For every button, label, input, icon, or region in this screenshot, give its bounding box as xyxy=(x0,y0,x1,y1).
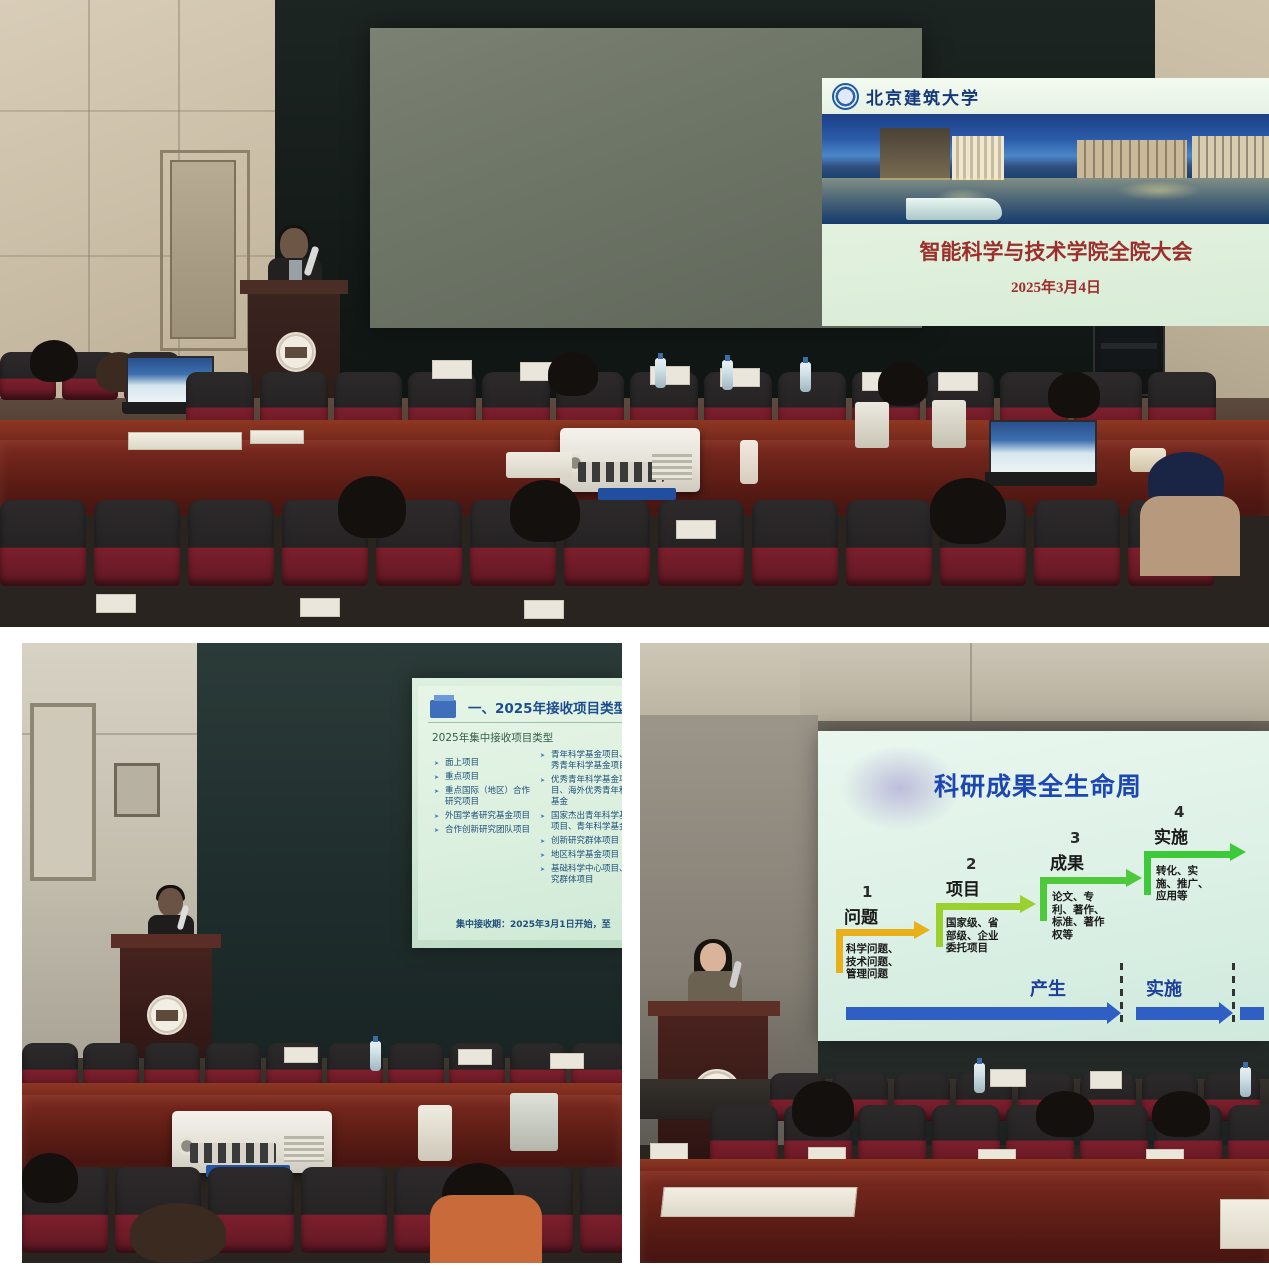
remote-tray xyxy=(506,452,572,478)
projector-vents xyxy=(652,454,692,480)
flow-label-implement: 实施 xyxy=(1146,975,1182,1001)
name-card xyxy=(650,1143,688,1160)
podium-surface xyxy=(648,1001,780,1016)
slide-title-page: 北京建筑大学 智能科学与技术学院全院大会 2025年3月4日 xyxy=(822,78,1269,326)
slide-footer-note: 集中接收期：2025年3月1日开始，至 xyxy=(456,917,611,930)
audience-person xyxy=(1152,1091,1210,1137)
slide-header-bar: 北京建筑大学 xyxy=(822,78,1269,114)
list-item: 创新研究群体项目 xyxy=(540,836,622,847)
seat xyxy=(1034,500,1120,586)
projection-screen-top: 北京建筑大学 智能科学与技术学院全院大会 2025年3月4日 xyxy=(370,28,922,328)
seat xyxy=(188,500,274,586)
name-card xyxy=(938,372,978,391)
desk-device-a xyxy=(418,1105,452,1161)
photo-bottom-left-project-types: 一、2025年接收项目类型 2025年集中接收项目类型 面上项目 重点项目 重点… xyxy=(22,643,622,1263)
conference-table xyxy=(640,1171,1269,1263)
seat xyxy=(94,500,180,586)
university-seal-icon xyxy=(832,83,859,110)
stage-description-1: 科学问题、技术问题、管理问题 xyxy=(846,943,902,981)
lifecycle-title: 科研成果全生命周 xyxy=(934,767,1142,803)
speaker-head xyxy=(700,943,726,973)
list-item: 重点项目 xyxy=(434,772,530,783)
stage-number-1: 1 xyxy=(862,883,872,901)
wall-picture-frame xyxy=(114,763,160,817)
bracket-stem xyxy=(936,903,943,947)
bracket-stem xyxy=(1040,877,1047,921)
meeting-title: 智能科学与技术学院全院大会 xyxy=(822,236,1269,266)
seat xyxy=(846,500,932,586)
list-item: 外国学者研究基金项目 xyxy=(434,811,530,822)
water-bottle xyxy=(655,358,666,388)
projection-screen-bottom-right: 科研成果全生命周 1 问题 科学问题、技术问题、管理问题 2 项目 国家级、省部… xyxy=(818,731,1269,1041)
slide-heading: 一、2025年接收项目类型 xyxy=(468,697,622,717)
seat-row-front xyxy=(0,500,1214,586)
speaker-head xyxy=(280,228,308,260)
name-card xyxy=(284,1047,318,1063)
seat xyxy=(658,500,744,586)
stage-label-3: 成果 xyxy=(1050,849,1084,874)
photo-top-auditorium-opening: 北京建筑大学 智能科学与技术学院全院大会 2025年3月4日 xyxy=(0,0,1269,627)
photo-bottom-right-research-lifecycle: 科研成果全生命周 1 问题 科学问题、技术问题、管理问题 2 项目 国家级、省部… xyxy=(640,643,1269,1263)
slide-bullet-icon xyxy=(430,700,456,718)
projection-screen-bottom-left: 一、2025年接收项目类型 2025年集中接收项目类型 面上项目 重点项目 重点… xyxy=(412,678,622,948)
list-item: 国家杰出青年科学基金项目、青年科学基金 xyxy=(540,811,622,833)
list-item: 地区科学基金项目 xyxy=(540,850,622,861)
stage-label-2: 项目 xyxy=(946,875,980,900)
desk-device-b xyxy=(932,400,966,448)
list-item: 合作创新研究团队项目 xyxy=(434,825,530,836)
audience-person xyxy=(338,476,406,538)
audience-person xyxy=(1036,1091,1094,1137)
stage-description-3: 论文、专利、著作、标准、著作权等 xyxy=(1052,891,1108,941)
desk-device-b xyxy=(510,1093,558,1151)
stage-label-1: 问题 xyxy=(844,903,878,928)
side-door xyxy=(170,160,236,339)
stage-description-4: 转化、实施、推广、应用等 xyxy=(1156,865,1212,903)
campus-building-b xyxy=(952,136,1004,180)
meeting-date: 2025年3月4日 xyxy=(822,276,1269,297)
stage-arrow-4 xyxy=(1230,843,1246,861)
badge-card xyxy=(1220,1199,1269,1249)
slide-subheading: 2025年集中接收项目类型 xyxy=(432,730,553,745)
bracket-arm xyxy=(1144,851,1230,858)
list-item: 青年科学基金项目、优秀青年科学基金项目 xyxy=(540,750,622,772)
bracket-arm xyxy=(1040,877,1126,884)
stage-arrow-3 xyxy=(1126,869,1142,887)
document-paper xyxy=(250,430,304,444)
water-bottle xyxy=(1240,1067,1251,1097)
thermos-bottle xyxy=(740,440,758,484)
podium-surface xyxy=(240,280,348,294)
cable-box xyxy=(598,488,676,500)
audience-person-jacket xyxy=(430,1195,542,1263)
name-card xyxy=(524,600,564,619)
audience-person xyxy=(792,1081,854,1137)
stage-number-4: 4 xyxy=(1174,803,1184,821)
seat xyxy=(0,500,86,586)
stage-number-3: 3 xyxy=(1070,829,1080,847)
flow-arrow-next xyxy=(1240,1007,1264,1020)
audience-person xyxy=(548,352,598,396)
audience-person xyxy=(878,362,928,406)
laptop-right xyxy=(985,420,1097,486)
stage-description-2: 国家级、省部级、企业委托项目 xyxy=(946,917,1002,955)
audience-person xyxy=(30,340,78,382)
university-name: 北京建筑大学 xyxy=(866,84,980,109)
project-list-right: 青年科学基金项目、优秀青年科学基金项目 优秀青年科学基金项目、海外优秀青年科学基… xyxy=(540,750,622,889)
bracket-arm xyxy=(936,903,1020,910)
speaker-head xyxy=(158,888,183,917)
water-bottle xyxy=(370,1041,381,1071)
name-card xyxy=(96,594,136,613)
podium-seal-icon xyxy=(276,332,316,372)
campus-building-d xyxy=(1192,136,1269,178)
name-card xyxy=(990,1069,1026,1087)
projector-ports xyxy=(190,1143,276,1163)
projector-device xyxy=(560,428,700,492)
campus-building-c xyxy=(1077,140,1187,178)
name-card xyxy=(458,1049,492,1065)
flow-arrow-implement xyxy=(1136,1007,1220,1020)
bracket-arm xyxy=(836,929,914,936)
list-item: 基础科学中心项目、研究群体项目 xyxy=(540,864,622,886)
flow-arrow-generate xyxy=(846,1007,1108,1020)
seat xyxy=(752,500,838,586)
stage-label-4: 实施 xyxy=(1154,823,1188,848)
side-door xyxy=(30,703,96,881)
campus-banner-image xyxy=(822,114,1269,224)
wall-panel-corner xyxy=(640,643,800,721)
flow-label-generate: 产生 xyxy=(1030,975,1066,1001)
flow-divider-2 xyxy=(1232,963,1235,1025)
campus-water-reflection xyxy=(822,178,1269,224)
projector-vents xyxy=(284,1136,324,1162)
audience-person xyxy=(510,480,580,542)
desk-device-a xyxy=(855,402,889,448)
audience-person xyxy=(1048,372,1100,418)
name-card xyxy=(300,598,340,617)
seat xyxy=(301,1167,387,1253)
stage-arrow-2 xyxy=(1020,895,1036,913)
stage-number-2: 2 xyxy=(966,855,976,873)
audience-person xyxy=(22,1153,78,1203)
photo-collage: 北京建筑大学 智能科学与技术学院全院大会 2025年3月4日 xyxy=(0,0,1269,1269)
document-paper xyxy=(660,1187,857,1217)
bracket-stem xyxy=(836,929,843,973)
project-list-left: 面上项目 重点项目 重点国际（地区）合作研究项目 外国学者研究基金项目 合作创新… xyxy=(434,758,530,839)
audience-person xyxy=(930,478,1006,544)
campus-boat xyxy=(906,198,1002,220)
name-card xyxy=(1090,1071,1122,1089)
list-item: 面上项目 xyxy=(434,758,530,769)
name-card xyxy=(432,360,472,379)
water-bottle xyxy=(974,1063,985,1093)
seat xyxy=(580,1167,622,1253)
audience-person-jacket xyxy=(1140,496,1240,576)
water-bottle xyxy=(722,360,733,390)
podium-surface xyxy=(111,934,221,948)
stage-arrow-1 xyxy=(914,921,930,939)
document-paper xyxy=(128,432,242,450)
name-card xyxy=(676,520,716,539)
list-item: 优秀青年科学基金项目、海外优秀青年科学基金 xyxy=(540,775,622,808)
campus-building-a xyxy=(880,128,950,180)
podium-seal-icon xyxy=(147,995,187,1035)
list-item: 重点国际（地区）合作研究项目 xyxy=(434,786,530,808)
name-card xyxy=(550,1053,584,1069)
slide-project-types: 一、2025年接收项目类型 2025年集中接收项目类型 面上项目 重点项目 重点… xyxy=(418,686,622,940)
laptop-screen xyxy=(989,420,1097,476)
heading-divider xyxy=(428,722,622,723)
bracket-stem xyxy=(1144,851,1151,895)
audience-person xyxy=(130,1203,226,1263)
laptop-keyboard xyxy=(985,472,1097,486)
flow-divider-1 xyxy=(1120,963,1123,1025)
water-bottle xyxy=(800,362,811,392)
projector-device xyxy=(172,1111,332,1173)
